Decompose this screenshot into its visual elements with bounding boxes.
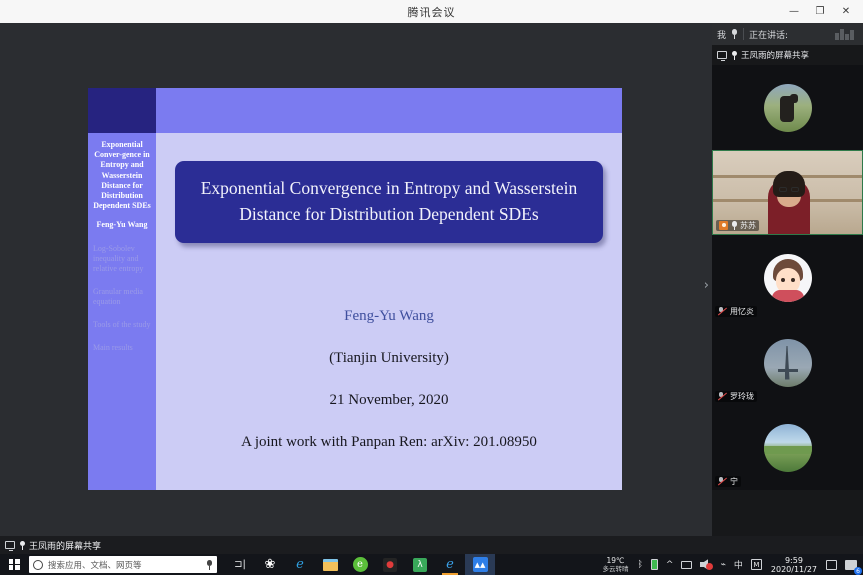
slide-header-band (88, 88, 622, 133)
screen-share-bar-label: 王凤雨的屏幕共享 (29, 539, 101, 552)
audio-waveform-icon (835, 29, 858, 40)
slide-line-affiliation: (Tianjin University) (156, 350, 622, 367)
notifications-count: 6 (854, 567, 862, 575)
expand-panel-chevron-icon[interactable]: › (704, 278, 709, 293)
internet-explorer-icon[interactable]: e (285, 554, 315, 575)
microphone-icon[interactable] (206, 560, 213, 570)
screen-share-label: 王凤雨的屏幕共享 (741, 49, 809, 61)
participant-tile[interactable]: 苏苏 (712, 150, 863, 235)
slide-title-text: Exponential Convergence in Entropy and W… (185, 175, 593, 227)
monitor-icon (717, 51, 727, 59)
monitor-icon (5, 541, 15, 549)
participant-name-badge: 罗玲珑 (715, 391, 757, 402)
screen-root: 腾讯会议 — ❐ ✕ Exponential Conver-gence in E… (0, 0, 863, 575)
slide-nav-section-0: Log-Sobolev inequality and relative entr… (91, 244, 153, 274)
participant-tile[interactable]: 用忆炎 (712, 235, 863, 320)
speaking-label: 正在讲话: (749, 28, 788, 41)
slide-line-author: Feng-Yu Wang (156, 308, 622, 325)
shared-screen-stage[interactable]: Exponential Conver-gence in Entropy and … (0, 23, 712, 536)
search-input[interactable]: 搜索应用、文档、网页等 (29, 556, 217, 573)
window-controls: — ❐ ✕ (781, 0, 859, 23)
display-icon[interactable] (677, 554, 696, 575)
screen-share-bar: 王凤雨的屏幕共享 (0, 536, 863, 554)
window-title: 腾讯会议 (408, 4, 456, 20)
action-center-icon[interactable] (822, 554, 841, 575)
slide-nav-sidebar: Exponential Conver-gence in Entropy and … (88, 133, 156, 490)
recorder-red-icon[interactable]: ● (375, 554, 405, 575)
self-label: 我 (717, 28, 726, 41)
microphone-icon (731, 51, 737, 60)
slide-body-lines: Feng-Yu Wang (Tianjin University) 21 Nov… (156, 308, 622, 451)
slide-nav-section-1: Granular media equation (91, 287, 153, 307)
participant-name: 宁 (730, 476, 738, 487)
host-badge-icon (719, 221, 728, 230)
divider (743, 28, 744, 40)
battery-icon[interactable] (647, 554, 662, 575)
participant-name: 用忆炎 (730, 306, 754, 317)
panel-status-bar: 我 正在讲话: 53 (712, 23, 863, 45)
slide-line-joint-work: A joint work with Panpan Ren: arXiv: 201… (156, 434, 622, 451)
network-icon[interactable]: ⌁ (716, 554, 729, 575)
presentation-slide: Exponential Conver-gence in Entropy and … (88, 88, 622, 490)
microphone-muted-icon (718, 477, 727, 486)
windows-taskbar: 搜索应用、文档、网页等 ⊐| ❀ e e ● λ (0, 554, 863, 575)
windows-start-icon[interactable] (0, 554, 28, 575)
weather-description: 多云转晴 (603, 565, 629, 573)
app-icon-pinwheel[interactable]: ❀ (255, 554, 285, 575)
slide-nav-author: Feng-Yu Wang (91, 220, 153, 230)
avatar (764, 339, 812, 387)
microphone-icon (731, 221, 737, 230)
clock-time: 9:59 (785, 556, 803, 565)
browser-green-icon[interactable]: e (345, 554, 375, 575)
notifications-icon[interactable]: 6 (841, 554, 861, 575)
microphone-muted-icon (718, 307, 727, 316)
slide-nav-section-2: Tools of the study (91, 320, 153, 330)
minimize-button[interactable]: — (781, 0, 807, 23)
search-placeholder: 搜索应用、文档、网页等 (48, 559, 201, 571)
clock[interactable]: 9:59 2020/11/27 (766, 556, 822, 574)
edge-browser-icon[interactable]: e (435, 554, 465, 575)
participant-name: 罗玲珑 (730, 391, 754, 402)
show-hidden-icons-icon[interactable]: ^ (662, 554, 678, 575)
system-tray: 19℃ 多云转晴 ᛒ ^ ⌁ (598, 554, 863, 575)
task-view-icon[interactable]: ⊐| (225, 554, 255, 575)
participant-tile[interactable] (712, 65, 863, 150)
microphone-muted-icon (718, 392, 727, 401)
sound-muted-icon[interactable] (696, 554, 716, 575)
ime-language-icon[interactable]: 中 (730, 554, 747, 575)
slide-body: Exponential Convergence in Entropy and W… (156, 133, 622, 490)
slide-nav-section-3: Main results (91, 343, 153, 353)
ime-mode-icon[interactable]: M (747, 554, 766, 575)
tencent-meeting-icon[interactable]: ▲▲ (465, 554, 495, 575)
slide-title-box: Exponential Convergence in Entropy and W… (175, 161, 603, 243)
weather-temperature: 19℃ (607, 557, 625, 565)
bluetooth-icon[interactable]: ᛒ (634, 554, 647, 575)
search-circle-icon (33, 560, 43, 570)
weather-widget[interactable]: 19℃ 多云转晴 (598, 557, 634, 573)
taskbar-app-icons: ⊐| ❀ e e ● λ e ▲▲ (225, 554, 495, 575)
participant-name-badge: 用忆炎 (715, 306, 757, 317)
close-button[interactable]: ✕ (833, 0, 859, 23)
participants-panel: 我 正在讲话: 53 王凤雨的屏幕共享 (712, 23, 863, 536)
participant-tile[interactable]: 宁 (712, 405, 863, 490)
avatar (764, 84, 812, 132)
participant-name-badge: 宁 (715, 476, 741, 487)
microphone-icon[interactable] (19, 541, 25, 550)
share-surface: Exponential Conver-gence in Entropy and … (0, 23, 712, 536)
microphone-icon[interactable] (731, 29, 738, 39)
slide-header-band-left (88, 88, 156, 133)
avatar (764, 424, 812, 472)
participant-name-badge: 苏苏 (716, 220, 759, 231)
maximize-button[interactable]: ❐ (807, 0, 833, 23)
slide-nav-title: Exponential Conver-gence in Entropy and … (91, 140, 153, 211)
pdf-reader-icon[interactable]: λ (405, 554, 435, 575)
participant-name: 苏苏 (740, 220, 756, 231)
clock-date: 2020/11/27 (771, 565, 817, 574)
slide-line-date: 21 November, 2020 (156, 392, 622, 409)
file-explorer-icon[interactable] (315, 554, 345, 575)
avatar (764, 254, 812, 302)
window-titlebar: 腾讯会议 — ❐ ✕ (0, 0, 863, 23)
participant-tile[interactable]: 罗玲珑 (712, 320, 863, 405)
screen-share-indicator: 王凤雨的屏幕共享 (712, 45, 863, 65)
